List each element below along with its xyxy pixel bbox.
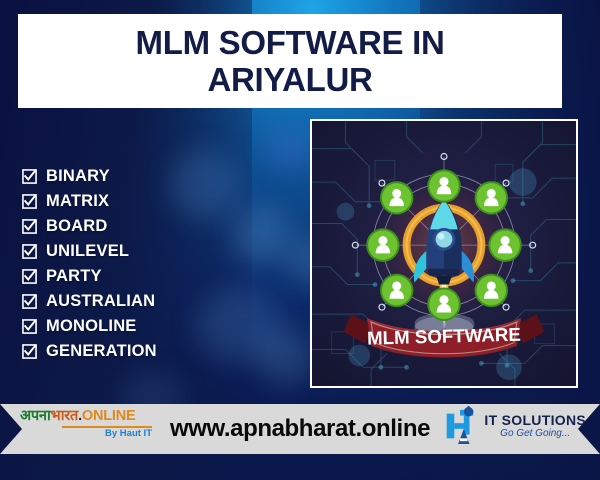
list-item: AUSTRALIAN xyxy=(22,290,157,312)
mlm-network-rocket-illustration: MLM SOFTWARE xyxy=(310,119,578,388)
feature-label: PARTY xyxy=(46,267,102,286)
logo-hindi-part2: भारत xyxy=(51,408,79,424)
checkbox-checked-icon xyxy=(22,269,37,284)
it-solutions-tagline: Go Get Going... xyxy=(484,429,586,440)
checkbox-checked-icon xyxy=(22,319,37,334)
checkbox-checked-icon xyxy=(22,344,37,359)
it-solutions-logo-icon xyxy=(441,406,479,446)
bokeh-light xyxy=(258,330,312,384)
feature-label: BOARD xyxy=(46,217,108,236)
list-item: PARTY xyxy=(22,265,157,287)
list-item: GENERATION xyxy=(22,340,157,362)
bokeh-light xyxy=(268,130,308,170)
ribbon-text: MLM SOFTWARE xyxy=(367,324,521,349)
feature-label: BINARY xyxy=(46,167,110,186)
checkbox-checked-icon xyxy=(22,244,37,259)
checkbox-checked-icon xyxy=(22,169,37,184)
feature-label: AUSTRALIAN xyxy=(46,292,155,311)
feature-label: MATRIX xyxy=(46,192,109,211)
apnabharat-logo-text: अपनाभारत.ONLINE xyxy=(20,409,152,424)
bokeh-light xyxy=(232,206,290,264)
logo-hindi-part1: अपना xyxy=(20,408,51,424)
list-item: MATRIX xyxy=(22,190,157,212)
logo-online: ONLINE xyxy=(82,408,136,424)
page-title: MLM SOFTWARE IN ARIYALUR xyxy=(136,24,445,99)
checkbox-checked-icon xyxy=(22,219,37,234)
checkbox-checked-icon xyxy=(22,194,37,209)
network-diagram: MLM SOFTWARE xyxy=(312,121,576,386)
it-solutions-text: IT SOLUTIONS Go Get Going... xyxy=(484,413,586,439)
it-solutions-logo[interactable]: IT SOLUTIONS Go Get Going... xyxy=(441,406,586,446)
title-banner: MLM SOFTWARE IN ARIYALUR xyxy=(18,14,562,108)
list-item: MONOLINE xyxy=(22,315,157,337)
feature-label: MONOLINE xyxy=(46,317,137,336)
it-solutions-name: IT SOLUTIONS xyxy=(484,413,586,428)
logo-tagline: By Haut IT xyxy=(20,429,152,439)
feature-label: GENERATION xyxy=(46,342,157,361)
list-item: UNILEVEL xyxy=(22,240,157,262)
list-item: BINARY xyxy=(22,165,157,187)
feature-list: BINARY MATRIX BOARD UNILEVEL PARTY xyxy=(22,165,157,362)
list-item: BOARD xyxy=(22,215,157,237)
apnabharat-logo[interactable]: अपनाभारत.ONLINE By Haut IT xyxy=(20,409,152,438)
checkbox-checked-icon xyxy=(22,294,37,309)
bokeh-light xyxy=(170,150,240,220)
feature-label: UNILEVEL xyxy=(46,242,129,261)
